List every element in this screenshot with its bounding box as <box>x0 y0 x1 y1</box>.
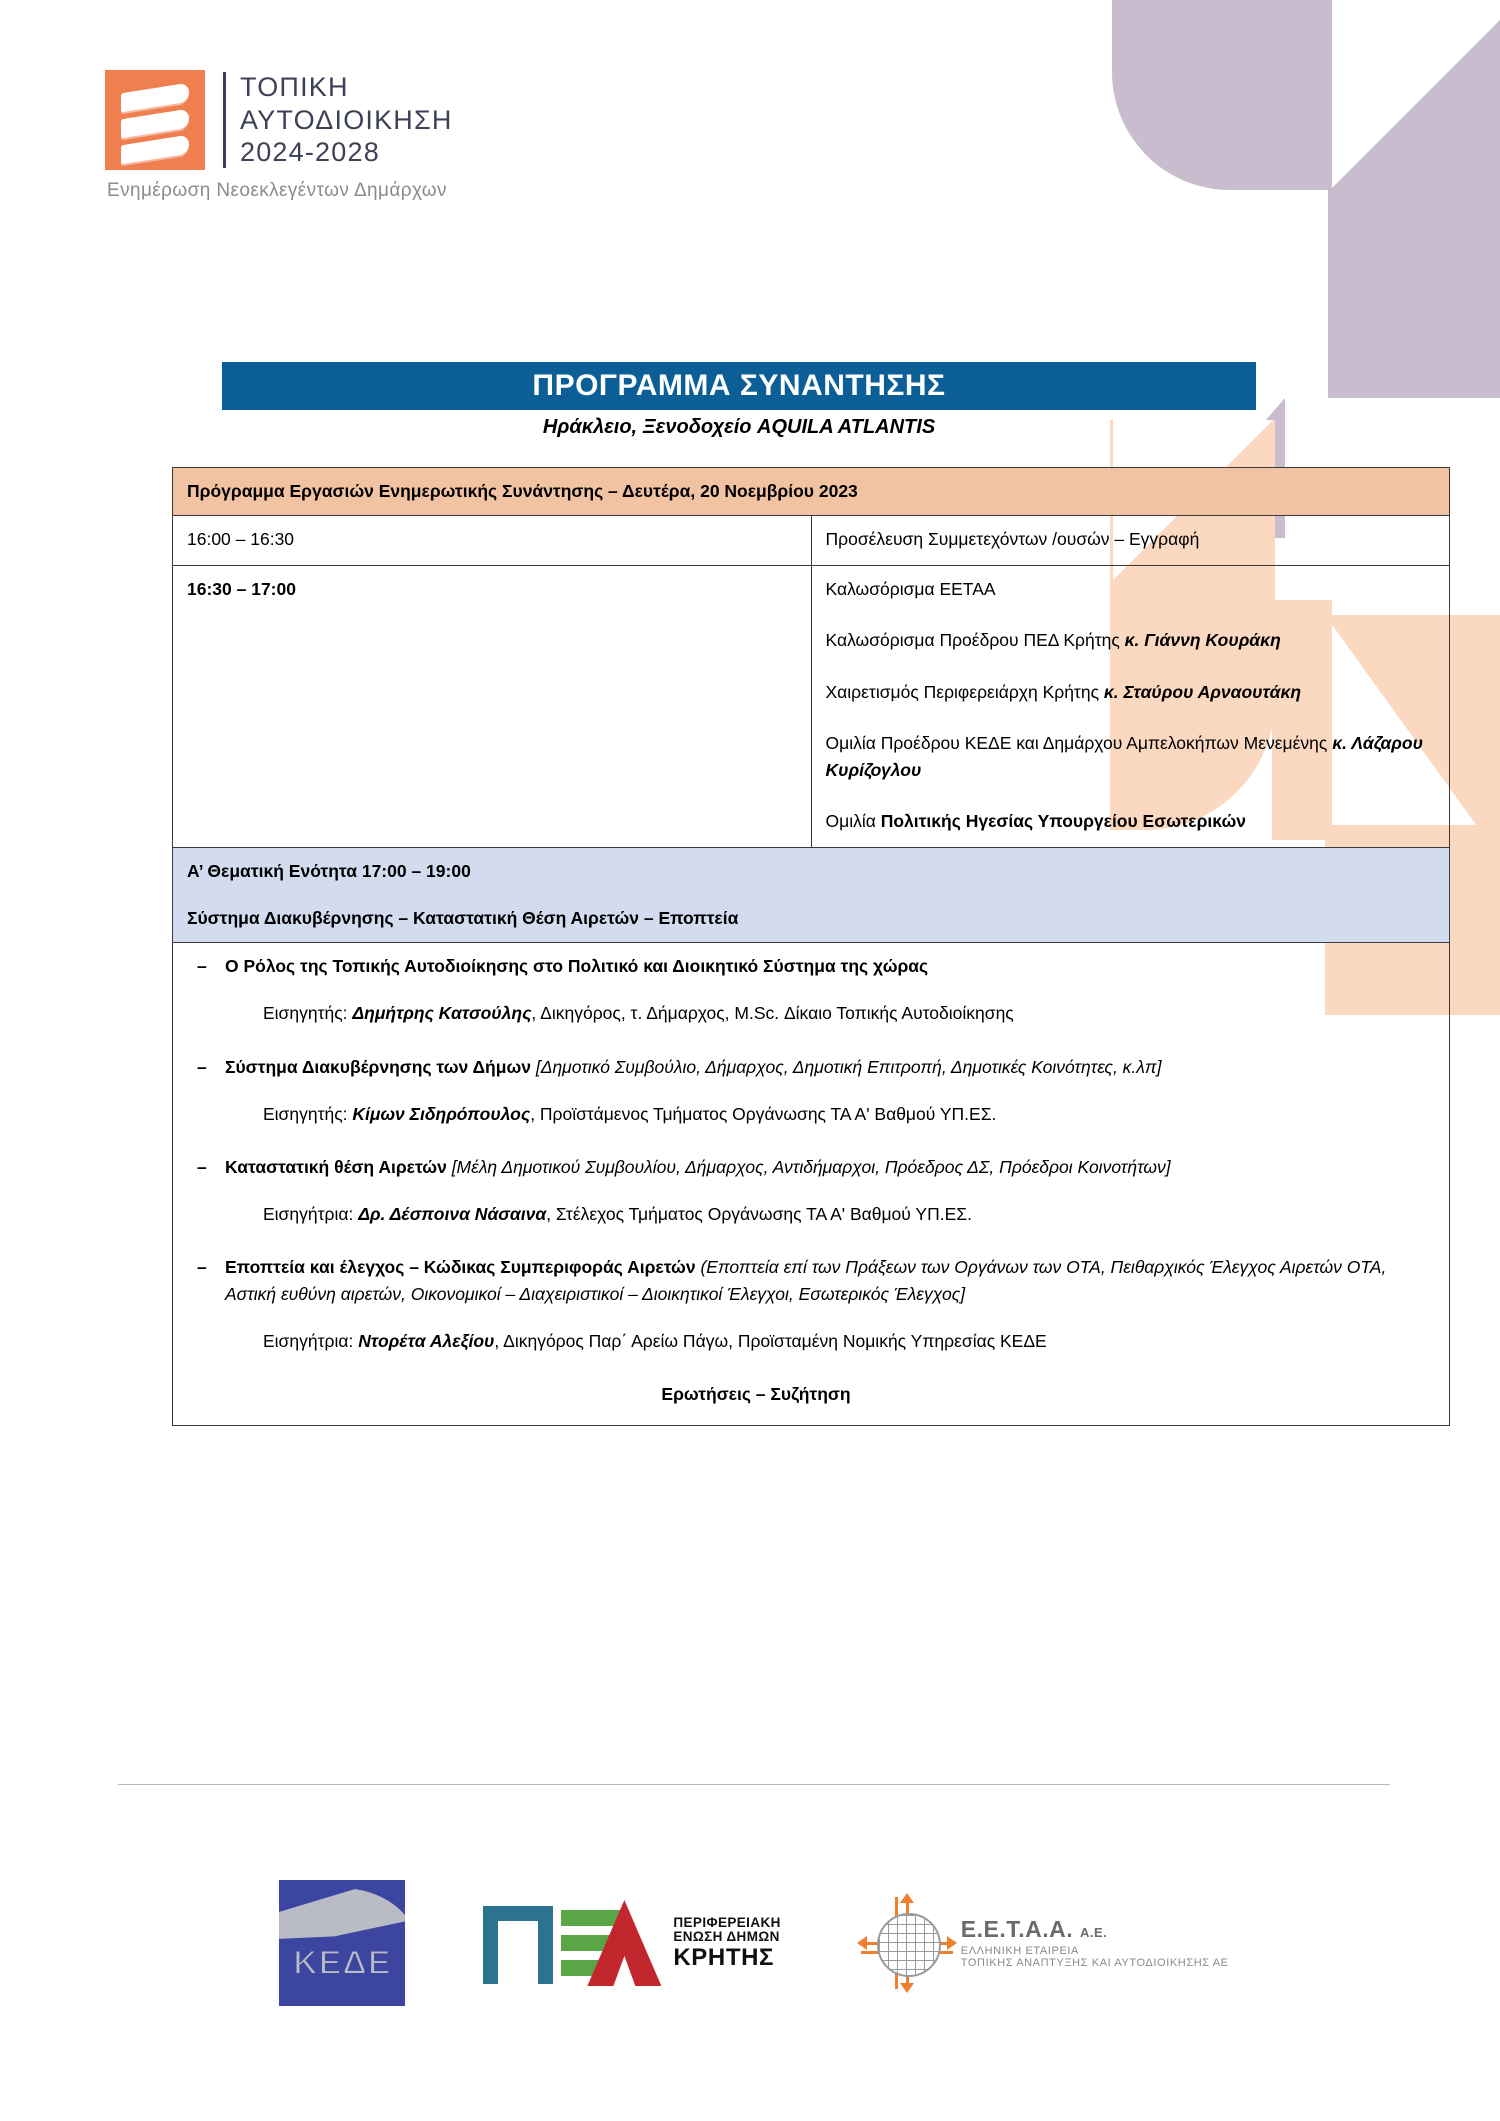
decor-violet-triangle <box>1330 0 1500 190</box>
bullet-dash-icon: – <box>197 1154 225 1181</box>
agenda-line: Χαιρετισμός Περιφερειάρχη Κρήτης κ. Σταύ… <box>826 679 1436 706</box>
row-detail: Καλωσόρισμα ΕΕΤΑΑΚαλωσόρισμα Προέδρου ΠΕ… <box>811 566 1450 848</box>
topic-speaker: Εισηγήτρια: Ντορέτα Αλεξίου, Δικηγόρος Π… <box>187 1328 1435 1355</box>
ped-mark-icon <box>483 1900 661 1986</box>
ped-line-3: ΚΡΗΤΗΣ <box>673 1945 780 1970</box>
footer-divider <box>118 1784 1390 1785</box>
agenda-line: Ομιλία Προέδρου ΚΕΔΕ και Δημάρχου Αμπελο… <box>826 730 1436 784</box>
agenda-header-cell: Πρόγραμμα Εργασιών Ενημερωτικής Συνάντησ… <box>173 468 1450 516</box>
row-time: 16:30 – 17:00 <box>173 566 812 848</box>
logo-line-3: 2024-2028 <box>240 136 453 169</box>
eetaa-globe-arrows-icon <box>859 1895 955 1991</box>
topic-speaker: Εισηγητής: Κίμων Σιδηρόπουλος, Προϊστάμε… <box>187 1101 1435 1128</box>
stacked-books-icon <box>105 70 205 170</box>
logo-divider <box>223 72 226 168</box>
topic-speaker: Εισηγητής: Δημήτρης Κατσούλης, Δικηγόρος… <box>187 1000 1435 1027</box>
topic-title: –Καταστατική θέση Αιρετών [Μέλη Δημοτικο… <box>187 1154 1435 1181</box>
bullet-dash-icon: – <box>197 953 225 980</box>
page-title: ΠΡΟΓΡΑΜΜΑ ΣΥΝΑΝΤΗΣΗΣ <box>222 362 1256 410</box>
list-item: –Ο Ρόλος της Τοπικής Αυτοδιοίκησης στο Π… <box>187 953 1435 1027</box>
logo-line-2: ΑΥΤΟΔΙΟΙΚΗΣΗ <box>240 104 453 137</box>
eetaa-title: Ε.Ε.Τ.Α.Α. Α.Ε. <box>961 1917 1229 1942</box>
document-page: ΤΟΠΙΚΗ ΑΥΤΟΔΙΟΙΚΗΣΗ 2024-2028 Ενημέρωση … <box>0 0 1500 2121</box>
brand-logo: ΤΟΠΙΚΗ ΑΥΤΟΔΙΟΙΚΗΣΗ 2024-2028 Ενημέρωση … <box>105 70 453 202</box>
eetaa-line-2: ΤΟΠΙΚΗΣ ΑΝΑΠΤΥΞΗΣ ΚΑΙ ΑΥΤΟΔΙΟΙΚΗΣΗΣ ΑΕ <box>961 1957 1229 1969</box>
bullet-dash-icon: – <box>197 1054 225 1081</box>
eetaa-line-1: ΕΛΛΗΝΙΚΗ ΕΤΑΙΡΕΙΑ <box>961 1945 1229 1957</box>
kede-logo-text: ΚΕΔΕ <box>279 1944 405 1983</box>
list-item: –Εποπτεία και έλεγχος – Κώδικας Συμπεριφ… <box>187 1254 1435 1355</box>
row-time: 16:00 – 16:30 <box>173 516 812 566</box>
agenda-line: Προσέλευση Συμμετεχόντων /ουσών – Εγγραφ… <box>826 526 1436 553</box>
decor-violet-square <box>1328 188 1500 398</box>
logo-line-1: ΤΟΠΙΚΗ <box>240 71 453 104</box>
ped-line-2: ΕΝΩΣΗ ΔΗΜΩΝ <box>673 1930 780 1944</box>
table-row: 16:00 – 16:30 Προσέλευση Συμμετεχόντων /… <box>173 516 1450 566</box>
topic-speaker: Εισηγήτρια: Δρ. Δέσποινα Νάσαινα, Στέλεχ… <box>187 1201 1435 1228</box>
agenda-line: Ομιλία Πολιτικής Ηγεσίας Υπουργείου Εσωτ… <box>826 808 1436 835</box>
agenda-line: Καλωσόρισμα Προέδρου ΠΕΔ Κρήτης κ. Γιάνν… <box>826 627 1436 654</box>
eetaa-logo: Ε.Ε.Τ.Α.Α. Α.Ε. ΕΛΛΗΝΙΚΗ ΕΤΑΙΡΕΙΑ ΤΟΠΙΚΗ… <box>859 1895 1229 1991</box>
list-item: –Σύστημα Διακυβέρνησης των Δήμων [Δημοτι… <box>187 1054 1435 1128</box>
section-line-2: Σύστημα Διακυβέρνησης – Καταστατική Θέση… <box>187 905 1435 932</box>
topics-list: –Ο Ρόλος της Τοπικής Αυτοδιοίκησης στο Π… <box>187 953 1435 1355</box>
table-row: Πρόγραμμα Εργασιών Ενημερωτικής Συνάντησ… <box>173 468 1450 516</box>
topic-title: –Σύστημα Διακυβέρνησης των Δήμων [Δημοτι… <box>187 1054 1435 1081</box>
table-row: Α’ Θεματική Ενότητα 17:00 – 19:00 Σύστημ… <box>173 848 1450 943</box>
row-detail: Προσέλευση Συμμετεχόντων /ουσών – Εγγραφ… <box>811 516 1450 566</box>
agenda-table: Πρόγραμμα Εργασιών Ενημερωτικής Συνάντησ… <box>172 467 1450 1426</box>
kede-logo: ΚΕΔΕ <box>279 1880 405 2006</box>
ped-kritis-logo: ΠΕΡΙΦΕΡΕΙΑΚΗ ΕΝΩΣΗ ΔΗΜΩΝ ΚΡΗΤΗΣ <box>483 1900 780 1986</box>
list-item: –Καταστατική θέση Αιρετών [Μέλη Δημοτικο… <box>187 1154 1435 1228</box>
agenda-line: Καλωσόρισμα ΕΕΤΑΑ <box>826 576 1436 603</box>
topic-title: –Ο Ρόλος της Τοπικής Αυτοδιοίκησης στο Π… <box>187 953 1435 980</box>
logo-subtitle: Ενημέρωση Νεοεκλεγέντων Δημάρχων <box>107 180 453 202</box>
section-line-1: Α’ Θεματική Ενότητα 17:00 – 19:00 <box>187 858 1435 885</box>
topic-title: –Εποπτεία και έλεγχος – Κώδικας Συμπεριφ… <box>187 1254 1435 1308</box>
table-row: 16:30 – 17:00 Καλωσόρισμα ΕΕΤΑΑΚαλωσόρισ… <box>173 566 1450 848</box>
ped-line-1: ΠΕΡΙΦΕΡΕΙΑΚΗ <box>673 1916 780 1930</box>
topics-cell: –Ο Ρόλος της Τοπικής Αυτοδιοίκησης στο Π… <box>173 943 1450 1425</box>
page-subtitle: Ηράκλειο, Ξενοδοχείο AQUILA ATLANTIS <box>222 416 1256 439</box>
bullet-dash-icon: – <box>197 1254 225 1281</box>
decor-violet-rounded-block <box>1112 0 1332 190</box>
closing-note: Ερωτήσεις – Συζήτηση <box>187 1381 1435 1408</box>
footer-logo-row: ΚΕΔΕ ΠΕΡΙΦΕΡΕΙΑΚΗ ΕΝΩΣΗ ΔΗΜΩΝ ΚΡΗΤΗΣ <box>118 1880 1390 2006</box>
table-row: –Ο Ρόλος της Τοπικής Αυτοδιοίκησης στο Π… <box>173 943 1450 1425</box>
section-header-cell: Α’ Θεματική Ενότητα 17:00 – 19:00 Σύστημ… <box>173 848 1450 943</box>
